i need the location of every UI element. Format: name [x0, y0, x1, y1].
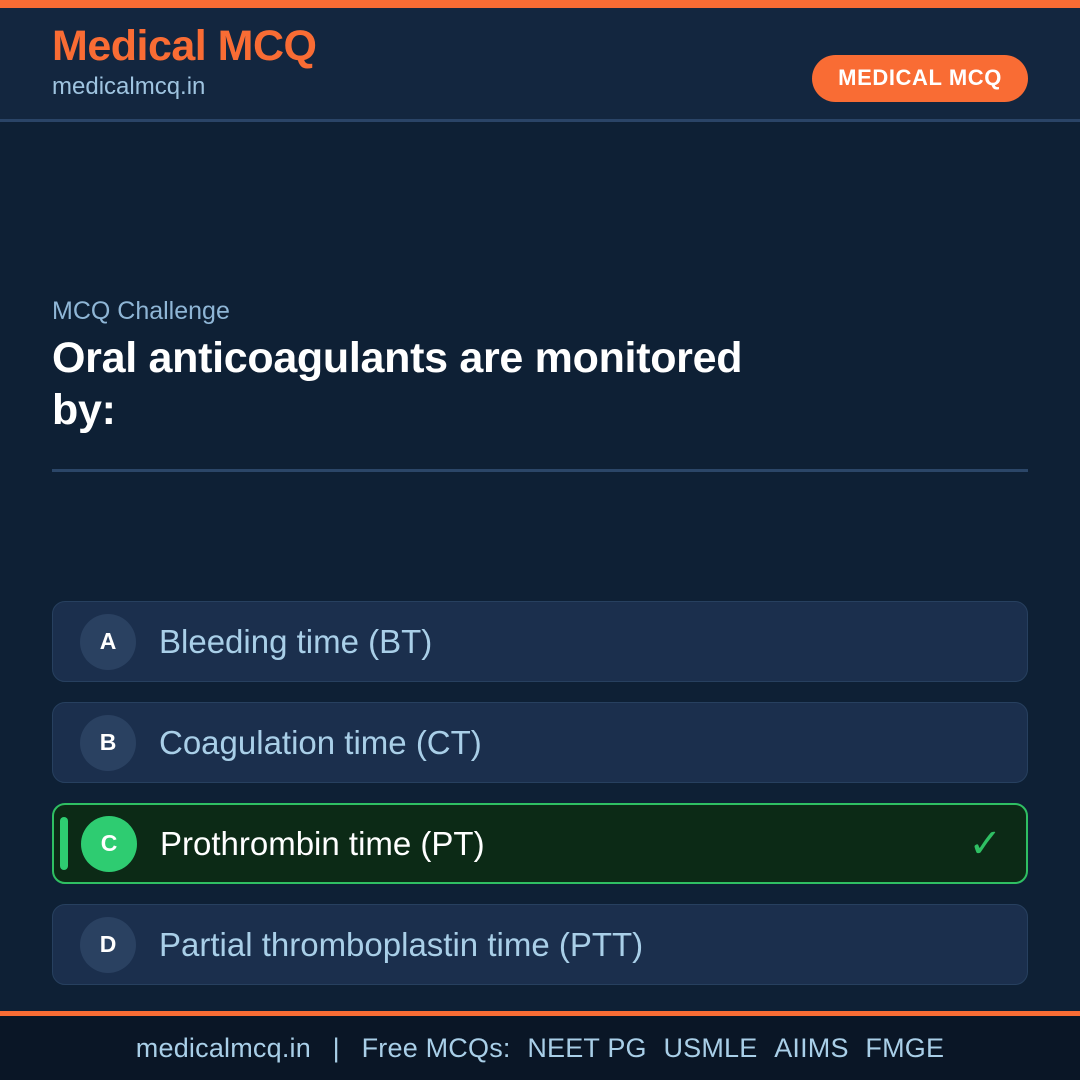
option-label: Bleeding time (BT)	[159, 623, 432, 661]
option-label: Coagulation time (CT)	[159, 724, 482, 762]
options-list: A Bleeding time (BT) B Coagulation time …	[52, 601, 1028, 985]
option-letter-badge: C	[81, 816, 137, 872]
option-letter-badge: B	[80, 715, 136, 771]
footer-exam-fmge: FMGE	[856, 1033, 944, 1063]
question-kicker: MCQ Challenge	[52, 297, 1028, 326]
brand-badge: MEDICAL MCQ	[812, 55, 1028, 102]
option-letter-badge: A	[80, 614, 136, 670]
brand: Medical MCQ medicalmcq.in	[52, 24, 317, 102]
option-label: Partial thromboplastin time (PTT)	[159, 926, 643, 964]
top-accent-bar	[0, 0, 1080, 8]
correct-accent-bar	[60, 817, 68, 870]
footer-exams-label: Free MCQs:	[362, 1033, 511, 1063]
footer-text: medicalmcq.in | Free MCQs: NEET PG USMLE…	[136, 1033, 944, 1064]
option-b[interactable]: B Coagulation time (CT)	[52, 702, 1028, 783]
option-letter-badge: D	[80, 917, 136, 973]
footer-separator: |	[319, 1033, 354, 1063]
footer-exam-aiims: AIIMS	[765, 1033, 849, 1063]
footer-exam-neet-pg: NEET PG	[518, 1033, 646, 1063]
option-c[interactable]: C Prothrombin time (PT) ✓	[52, 803, 1028, 884]
main-content: MCQ Challenge Oral anticoagulants are mo…	[0, 122, 1080, 1011]
option-label: Prothrombin time (PT)	[160, 825, 485, 863]
option-a[interactable]: A Bleeding time (BT)	[52, 601, 1028, 682]
header: Medical MCQ medicalmcq.in MEDICAL MCQ	[0, 8, 1080, 122]
footer: medicalmcq.in | Free MCQs: NEET PG USMLE…	[0, 1011, 1080, 1080]
option-d[interactable]: D Partial thromboplastin time (PTT)	[52, 904, 1028, 985]
question-block: MCQ Challenge Oral anticoagulants are mo…	[52, 297, 1028, 472]
check-icon: ✓	[968, 824, 1002, 864]
brand-subtitle: medicalmcq.in	[52, 71, 317, 102]
question-text: Oral anticoagulants are monitored by:	[52, 332, 752, 437]
footer-exam-usmle: USMLE	[654, 1033, 757, 1063]
brand-title: Medical MCQ	[52, 24, 317, 69]
mcq-card: Medical MCQ medicalmcq.in MEDICAL MCQ MC…	[0, 0, 1080, 1080]
footer-site[interactable]: medicalmcq.in	[136, 1033, 311, 1063]
question-divider	[52, 469, 1028, 472]
